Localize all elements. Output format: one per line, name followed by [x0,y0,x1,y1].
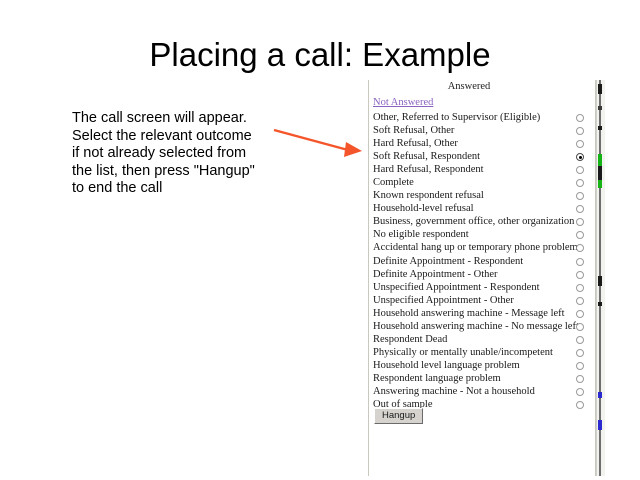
outcome-row[interactable]: Hard Refusal, Other [369,137,595,150]
outcome-row[interactable]: Household level language problem [369,359,595,372]
outcome-row[interactable]: Household-level refusal [369,202,595,215]
outcome-label: Household level language problem [373,359,520,372]
scrollbar-mark [598,166,602,180]
outcome-radio-button[interactable] [576,362,584,370]
outcome-label: Soft Refusal, Respondent [373,150,480,163]
outcome-row[interactable]: Business, government office, other organ… [369,215,595,228]
outcome-radio-button[interactable] [576,284,584,292]
instruction-line-3: if not already selected from [72,145,287,163]
outcome-row[interactable]: Respondent language problem [369,372,595,385]
panel-header: Answered [369,80,595,96]
outcome-radio-button[interactable] [576,323,584,331]
scrollbar-mark [598,126,602,130]
not-answered-link[interactable]: Not Answered [373,97,433,108]
outcome-row[interactable]: Hard Refusal, Respondent [369,163,595,176]
instruction-line-1: The call screen will appear. [72,110,287,128]
outcome-radio-button[interactable] [576,310,584,318]
outcome-label: Respondent Dead [373,333,447,346]
outcome-label: Household-level refusal [373,202,474,215]
outcome-row[interactable]: Household answering machine - No message… [369,320,595,333]
outcome-radio-button[interactable] [576,375,584,383]
outcome-label: Known respondent refusal [373,189,484,202]
outcome-radio-button[interactable] [576,192,584,200]
outcome-row[interactable]: Unspecified Appointment - Other [369,294,595,307]
scrollbar-mark [598,392,602,398]
outcome-label: Accidental hang up or temporary phone pr… [373,241,578,254]
outcome-radio-button[interactable] [576,244,584,252]
outcome-radio-button[interactable] [576,179,584,187]
scrollbar-mark [598,180,602,188]
hangup-button[interactable]: Hangup [374,408,423,424]
outcome-row[interactable]: Unspecified Appointment - Respondent [369,281,595,294]
instruction-line-5: to end the call [72,180,287,198]
outcome-row[interactable]: Respondent Dead [369,333,595,346]
outcome-option-list: Other, Referred to Supervisor (Eligible)… [369,111,595,411]
instruction-line-4: the list, then press "Hangup" [72,163,287,181]
outcome-radio-button[interactable] [576,349,584,357]
outcome-label: Physically or mentally unable/incompeten… [373,346,553,359]
outcome-radio-button[interactable] [576,388,584,396]
outcome-radio-button[interactable] [576,153,584,161]
outcome-label: Definite Appointment - Respondent [373,255,523,268]
outcome-row[interactable]: Soft Refusal, Respondent [369,150,595,163]
outcome-radio-button[interactable] [576,218,584,226]
outcome-radio-button[interactable] [576,166,584,174]
scrollbar-mark [598,276,602,286]
outcome-label: Answering machine - Not a household [373,385,535,398]
outcome-row[interactable]: Other, Referred to Supervisor (Eligible) [369,111,595,124]
outcome-row[interactable]: Complete [369,176,595,189]
outcome-row[interactable]: Definite Appointment - Other [369,268,595,281]
outcome-radio-button[interactable] [576,297,584,305]
outcome-row[interactable]: Accidental hang up or temporary phone pr… [369,241,595,254]
outcome-row[interactable]: Definite Appointment - Respondent [369,255,595,268]
outcome-radio-button[interactable] [576,127,584,135]
vertical-scrollbar[interactable] [596,80,605,476]
outcome-radio-button[interactable] [576,205,584,213]
outcome-label: Other, Referred to Supervisor (Eligible) [373,111,540,124]
outcome-label: Hard Refusal, Other [373,137,458,150]
outcome-label: Household answering machine - Message le… [373,307,565,320]
outcome-label: Hard Refusal, Respondent [373,163,484,176]
scrollbar-mark [598,106,602,110]
outcome-radio-button[interactable] [576,258,584,266]
scrollbar-mark [598,302,602,306]
outcome-label: Business, government office, other organ… [373,215,574,228]
outcome-radio-button[interactable] [576,336,584,344]
outcome-label: Soft Refusal, Other [373,124,454,137]
outcome-label: Unspecified Appointment - Other [373,294,514,307]
outcome-label: No eligible respondent [373,228,469,241]
scrollbar-mark [598,84,602,94]
scrollbar-mark [598,420,602,430]
page-title: Placing a call: Example [0,36,640,74]
instruction-line-2: Select the relevant outcome [72,128,287,146]
outcome-row[interactable]: Soft Refusal, Other [369,124,595,137]
scrollbar-mark [598,154,602,166]
outcome-radio-button[interactable] [576,231,584,239]
outcome-row[interactable]: Known respondent refusal [369,189,595,202]
outcome-label: Definite Appointment - Other [373,268,498,281]
outcome-radio-button[interactable] [576,271,584,279]
call-outcome-panel: Answered Not Answered Other, Referred to… [368,80,596,476]
outcome-row[interactable]: Answering machine - Not a household [369,385,595,398]
outcome-label: Respondent language problem [373,372,501,385]
outcome-radio-button[interactable] [576,114,584,122]
outcome-row[interactable]: Physically or mentally unable/incompeten… [369,346,595,359]
outcome-row[interactable]: Household answering machine - Message le… [369,307,595,320]
outcome-radio-button[interactable] [576,140,584,148]
outcome-label: Complete [373,176,414,189]
outcome-label: Unspecified Appointment - Respondent [373,281,540,294]
instruction-text: The call screen will appear. Select the … [72,110,287,198]
outcome-label: Household answering machine - No message… [373,320,579,333]
outcome-radio-button[interactable] [576,401,584,409]
outcome-row[interactable]: No eligible respondent [369,228,595,241]
answered-header-label: Answered [369,81,569,92]
